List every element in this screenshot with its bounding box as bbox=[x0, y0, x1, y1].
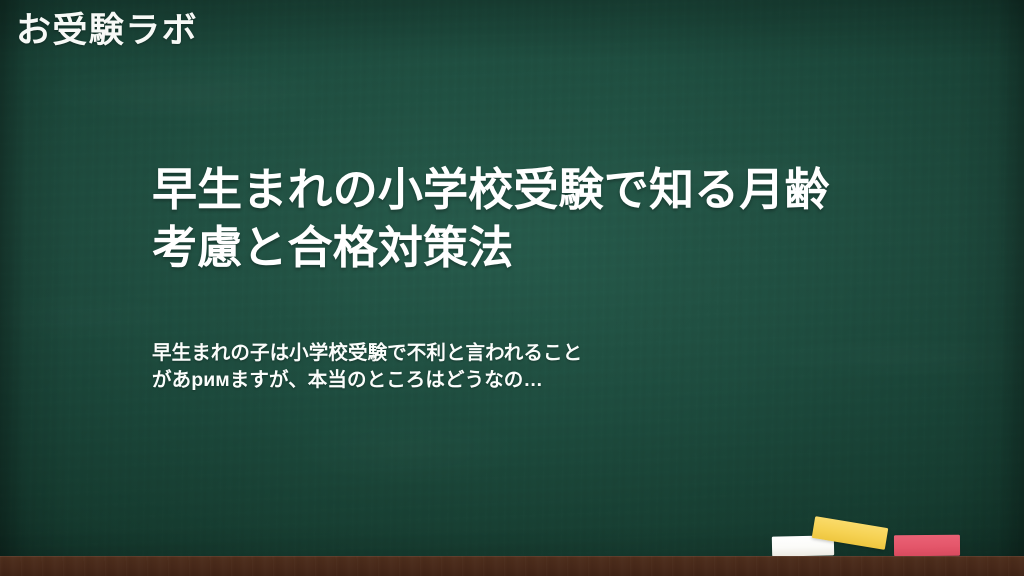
page-title-line-2: 考慮と合格対策法 bbox=[152, 219, 964, 277]
red-chalk bbox=[894, 535, 960, 556]
page-title: 早生まれの小学校受験で知る月齢 考慮と合格対策法 bbox=[152, 161, 964, 277]
chalkboard-thumbnail: お受験ラボ 早生まれの小学校受験で知る月齢 考慮と合格対策法 早生まれの子は小学… bbox=[0, 0, 1024, 576]
page-excerpt-line-1: 早生まれの子は小学校受験で不利と言われること bbox=[152, 340, 712, 367]
site-logo[interactable]: お受験ラボ bbox=[16, 9, 198, 53]
chalkboard-surface bbox=[0, 0, 1024, 576]
page-title-line-1: 早生まれの小学校受験で知る月齢 bbox=[152, 161, 964, 219]
page-excerpt: 早生まれの子は小学校受験で不利と言われること があримますが、本当のところはど… bbox=[152, 340, 712, 394]
ledge-wood-grain bbox=[0, 556, 1024, 576]
page-excerpt-line-2: があримますが、本当のところはどうなの… bbox=[152, 367, 712, 394]
chalk-ledge bbox=[0, 556, 1024, 576]
